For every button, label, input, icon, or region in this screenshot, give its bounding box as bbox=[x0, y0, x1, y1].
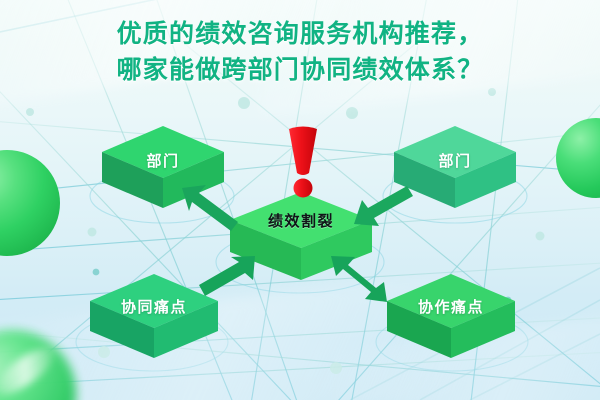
title-line-2: 哪家能做跨部门协同绩效体系？ bbox=[0, 52, 600, 88]
sphere-bottom-gloss bbox=[0, 340, 61, 400]
exclamation-mark-icon bbox=[283, 126, 323, 198]
arrow-down-left-icon bbox=[352, 184, 414, 234]
arrow-up-left-icon bbox=[180, 182, 242, 234]
arrow-up-right-icon bbox=[193, 252, 259, 302]
arrow-from-top-right bbox=[352, 184, 414, 239]
arrow-to-center bbox=[193, 252, 259, 307]
node-pain-cooperation[interactable]: 协作痛点 bbox=[385, 272, 517, 366]
isometric-cube bbox=[385, 272, 517, 366]
sphere-bottom bbox=[0, 330, 76, 400]
sphere-right bbox=[556, 118, 600, 198]
title-line-1: 优质的绩效咨询服务机构推荐， bbox=[0, 16, 600, 52]
arrow-double-head-icon bbox=[327, 252, 397, 304]
sphere-left bbox=[0, 150, 60, 256]
arrow-bidirectional bbox=[327, 252, 397, 309]
arrow-to-top-left bbox=[180, 182, 242, 239]
alert-exclamation bbox=[283, 126, 323, 203]
poster-title: 优质的绩效咨询服务机构推荐， 哪家能做跨部门协同绩效体系？ bbox=[0, 16, 600, 88]
poster-canvas: 优质的绩效咨询服务机构推荐， 哪家能做跨部门协同绩效体系？ bbox=[0, 0, 600, 400]
